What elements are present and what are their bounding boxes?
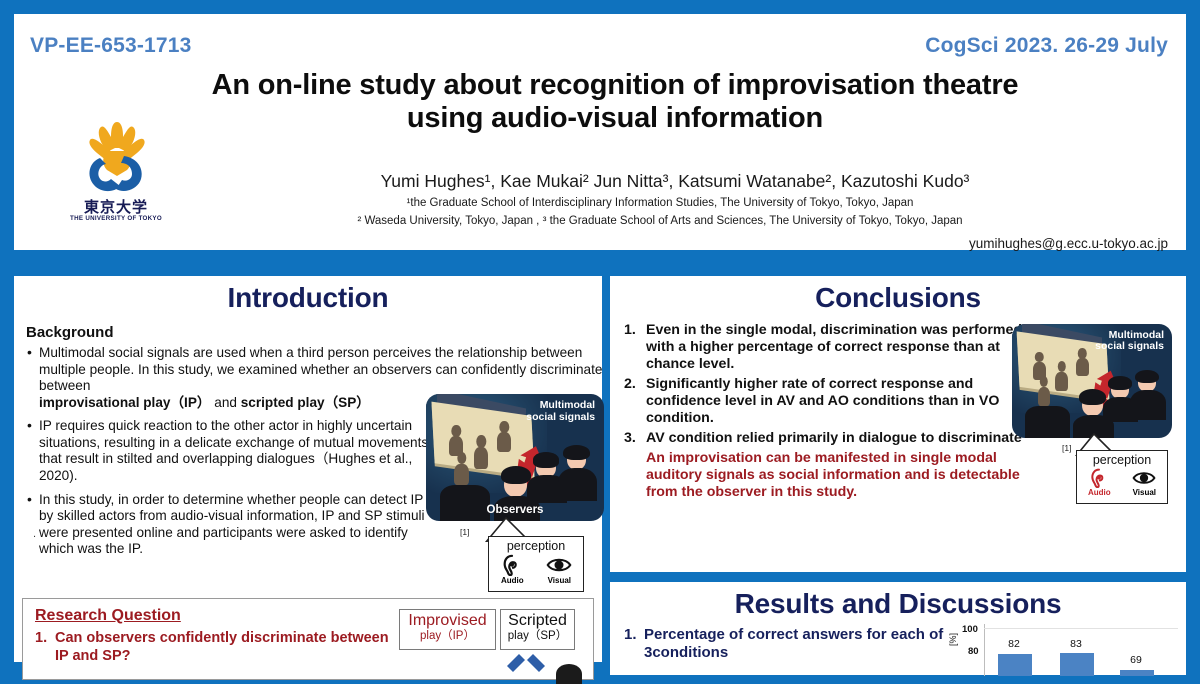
perception-captions: Audio Visual <box>489 576 583 585</box>
foreground-silhouette <box>440 485 490 521</box>
label-line-1: Multimodal <box>540 399 595 411</box>
bullet-1-bold-sp: scripted play（SP） <box>241 395 370 410</box>
list-item: 3. AV condition relied primarily in dial… <box>624 430 1024 447</box>
title-line-1: An on-line study about recognition of im… <box>212 69 1019 101</box>
label-line-2: social signals <box>526 411 595 423</box>
chart-bar-ao <box>1060 653 1094 676</box>
theatre-illustration-intro: Multimodal social signals Observers [1] … <box>426 394 604 521</box>
chart-bar-label-av: 82 <box>990 638 1038 650</box>
multimodal-signals-label: Multimodal social signals <box>1095 330 1164 354</box>
theatre-illustration-conclusions: Multimodal social signals [1] perception <box>1012 324 1172 438</box>
observer-hair <box>1135 370 1159 384</box>
perception-captions: Audio Visual <box>1077 488 1167 497</box>
affiliation-2: ² Waseda University, Tokyo, Japan , ³ th… <box>164 214 1156 228</box>
conclusions-highlight: An improvisation can be manifested in si… <box>646 450 1024 501</box>
audio-label: Audio <box>1088 488 1111 497</box>
bullet-1-bold-ip: improvisational play（IP） <box>39 395 210 410</box>
perception-title: perception <box>1077 453 1167 467</box>
chart-gridline <box>984 628 1178 629</box>
scripted-label: Scripted <box>501 613 574 630</box>
multimodal-signals-label: Multimodal social signals <box>526 400 595 424</box>
list-item: 1. Even in the single modal, discriminat… <box>624 322 1024 373</box>
improvised-label: Improvised <box>400 613 495 630</box>
stray-mark: . <box>33 528 36 540</box>
ginkgo-leaf-icon <box>80 118 154 196</box>
comparison-arrows-icon <box>497 652 557 676</box>
item-number: 3. <box>624 430 636 447</box>
results-heading: Results and Discussions <box>610 588 1186 620</box>
conclusions-section: Conclusions 1. Even in the single modal,… <box>610 276 1186 572</box>
improvised-sublabel: play（IP） <box>400 630 495 643</box>
item-number: 1. <box>35 629 47 647</box>
item-number: 1. <box>624 626 637 644</box>
observer-hair <box>501 466 531 484</box>
chart-y-axis <box>984 624 985 676</box>
chart-bar-label-ao: 83 <box>1052 638 1100 650</box>
correct-answers-bar-chart: [%] 100 80 82 83 69 <box>948 624 1178 676</box>
list-item: 2. Significantly higher rate of correct … <box>624 376 1024 427</box>
observer-shoulder <box>558 468 597 501</box>
stage-actor <box>474 447 488 469</box>
page-title: An on-line study about recognition of im… <box>74 69 1156 135</box>
foreground-silhouette <box>1025 406 1070 438</box>
item-number: 1. <box>624 322 636 339</box>
observer-hair <box>533 452 560 467</box>
audio-label: Audio <box>501 576 524 585</box>
conclusions-body: 1. Even in the single modal, discriminat… <box>624 322 1024 501</box>
observer-shoulder <box>1130 390 1165 420</box>
university-of-tokyo-logo: 東京大学 THE UNIVERSITY OF TOKYO <box>66 118 166 234</box>
label-line-1: Multimodal <box>1109 329 1164 341</box>
author-list: Yumi Hughes¹, Kae Mukai² Jun Nitta³, Kat… <box>194 171 1156 192</box>
logo-japanese-name: 東京大学 <box>66 196 166 217</box>
ear-icon <box>501 554 523 576</box>
chart-ytick-100: 100 <box>962 624 978 635</box>
conference-name: CogSci 2023. 26-29 July <box>925 34 1168 58</box>
item-number: 2. <box>624 376 636 393</box>
theatre-scene: Multimodal social signals <box>1012 324 1172 438</box>
citation-marker: [1] <box>460 527 469 537</box>
observer-hair <box>1079 389 1106 405</box>
eye-icon <box>1132 469 1156 487</box>
results-item: 1. Percentage of correct answers for eac… <box>624 626 964 663</box>
poster-canvas: VP-EE-653-1713 CogSci 2023. 26-29 July A… <box>0 0 1200 675</box>
improvised-play-box: Improvised play（IP） <box>399 609 496 650</box>
bullet-1-conjunction: and <box>210 395 240 410</box>
list-item: In this study, in order to determine whe… <box>26 492 439 558</box>
research-question-title: Research Question <box>35 607 181 625</box>
visual-label: Visual <box>548 576 571 585</box>
item-text: Significantly higher rate of correct res… <box>646 376 999 426</box>
conclusions-heading: Conclusions <box>610 282 1186 314</box>
theatre-scene: Multimodal social signals Observers <box>426 394 604 521</box>
person-silhouette <box>556 664 582 684</box>
perception-title: perception <box>489 539 583 553</box>
perception-icons <box>489 554 583 576</box>
poster-header: VP-EE-653-1713 CogSci 2023. 26-29 July A… <box>14 14 1186 250</box>
chart-y-axis-label: [%] <box>948 633 958 646</box>
item-text: Percentage of correct answers for each o… <box>644 626 943 661</box>
results-section: Results and Discussions 1. Percentage of… <box>610 582 1186 675</box>
stage-actor <box>454 464 468 486</box>
title-line-2: using audio-visual information <box>407 102 823 134</box>
introduction-heading: Introduction <box>14 282 602 314</box>
label-line-2: social signals <box>1095 340 1164 352</box>
citation-marker: [1] <box>1062 443 1071 453</box>
contact-email[interactable]: yumihughes@g.ecc.u-tokyo.ac.jp <box>969 236 1168 251</box>
ear-icon <box>1089 468 1109 488</box>
chart-bar-vo <box>1120 670 1154 676</box>
perception-callout-box: perception Audio Visual <box>488 536 584 592</box>
item-text: AV condition relied primarily in dialogu… <box>646 430 1022 446</box>
item-text: Even in the single modal, discrimination… <box>646 322 1022 372</box>
chart-bar-av <box>998 654 1032 676</box>
list-item: IP requires quick reaction to the other … <box>26 418 439 484</box>
logo-english-name: THE UNIVERSITY OF TOKYO <box>66 215 166 222</box>
results-body: 1. Percentage of correct answers for eac… <box>624 626 964 663</box>
bullet-1-text: Multimodal social signals are used when … <box>39 345 602 393</box>
observer-hair <box>563 445 590 460</box>
perception-icons <box>1077 468 1167 488</box>
scripted-sublabel: play（SP） <box>501 630 574 643</box>
item-text: Can observers confidently discriminate b… <box>35 629 405 665</box>
visual-label: Visual <box>1133 488 1156 497</box>
perception-callout-box: perception Audio Visual <box>1076 450 1168 504</box>
stage-actor <box>1055 372 1068 391</box>
chart-ytick-80: 80 <box>968 646 979 657</box>
scripted-play-box: Scripted play（SP） <box>500 609 575 650</box>
background-label: Background <box>26 324 594 341</box>
observers-label: Observers <box>487 504 544 516</box>
eye-icon <box>546 555 572 575</box>
chart-bar-label-vo: 69 <box>1112 654 1160 666</box>
affiliation-1: ¹the Graduate School of Interdisciplinar… <box>164 196 1156 210</box>
research-question-item: 1. Can observers confidently discriminat… <box>35 629 405 665</box>
observer-hair <box>1108 376 1132 390</box>
paper-id: VP-EE-653-1713 <box>30 34 192 58</box>
stage-actor <box>1038 387 1051 406</box>
